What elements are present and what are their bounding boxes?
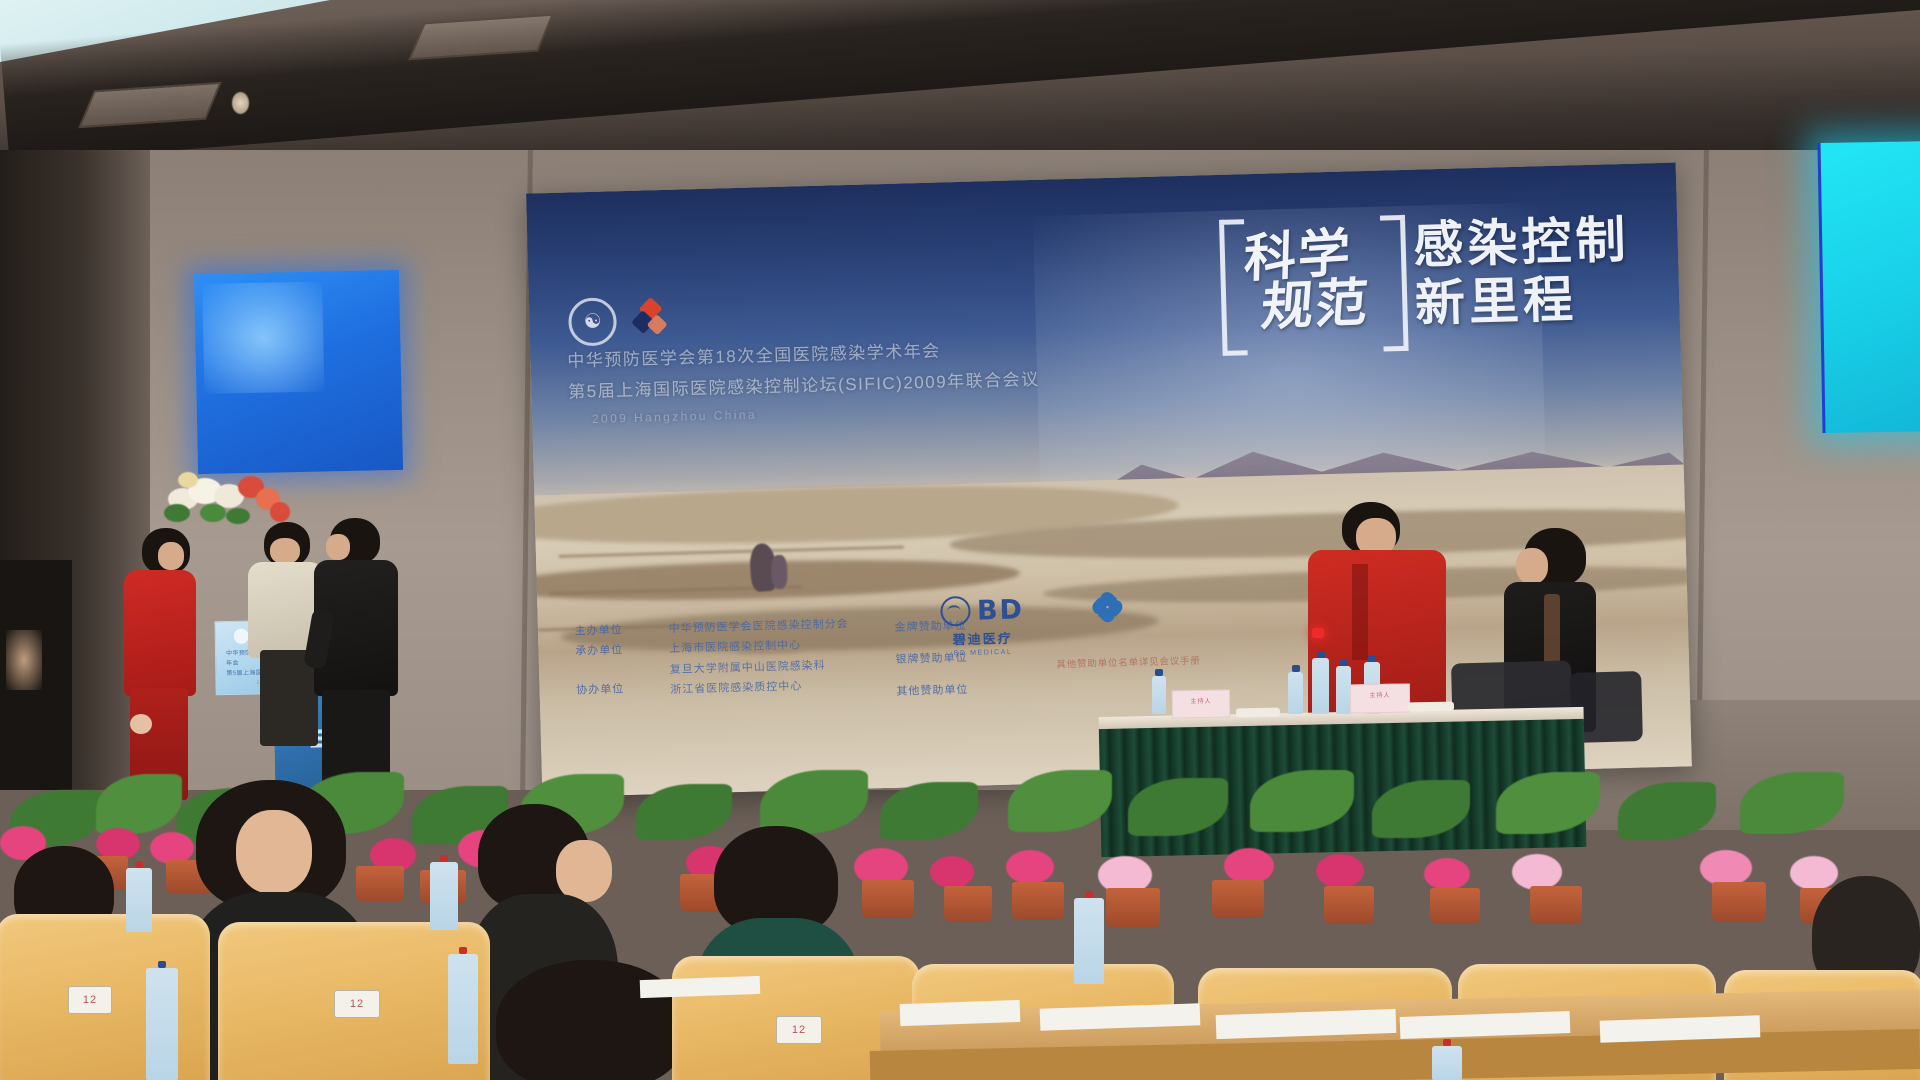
association-emblem-icon: ☯ (568, 297, 617, 346)
water-bottle (1152, 676, 1166, 714)
banner-logo-row: ☯ (568, 295, 671, 346)
sponsor-value: 浙江省医院感染质控中心 (670, 675, 850, 700)
bd-wordmark: BD (977, 594, 1025, 626)
banner-walker-figure (771, 555, 788, 589)
sponsor-label: 承办单位 (575, 640, 624, 662)
clover-icon (1092, 591, 1123, 622)
headline-right-text: 感染控制 新里程 (1413, 209, 1632, 331)
bd-sponsor-logo: BD 碧迪医疗 BD MEDICAL (940, 594, 1026, 657)
ceiling-dark-band (0, 0, 1920, 164)
audience-face (556, 840, 612, 902)
podium-flower-arrangement (164, 468, 292, 530)
doorway-light (6, 630, 42, 690)
calligraphy-line-2: 规范 (1259, 278, 1387, 334)
recessed-ceiling-light-icon (232, 92, 249, 114)
chair-number-plate: 12 (334, 990, 380, 1018)
water-bottle (126, 868, 152, 932)
sponsor-label: 协办单位 (576, 679, 625, 701)
attendant-dark-suit (314, 518, 402, 808)
name-card-text: 主持人 (1173, 696, 1229, 706)
banner-sponsor-block: 主办单位 承办单位 协办单位 中华预防医学会医院感染控制分会 上海市医院感染控制… (574, 611, 968, 717)
water-bottle (430, 862, 458, 930)
presenter-red-suit (124, 528, 202, 800)
podium-emblem-icon (234, 629, 249, 644)
water-bottle (1074, 898, 1104, 984)
headline-calligraphy: 科学 规范 (1243, 214, 1386, 348)
chair-number-plate: 12 (776, 1016, 822, 1044)
sific-diamond-logo-icon (630, 299, 671, 340)
sponsor-tier: 其他赞助单位 (896, 674, 969, 708)
name-card-text: 主持人 (1351, 689, 1409, 699)
name-card: 主持人 (1350, 683, 1410, 713)
name-card: 主持人 (1172, 689, 1230, 718)
paper-sheet (900, 1000, 1021, 1026)
left-projection-screen (194, 270, 403, 474)
water-bottle (146, 968, 178, 1080)
bd-chinese-name: 碧迪医疗 (952, 627, 1013, 648)
sponsor-label-column: 主办单位 承办单位 协办单位 (574, 620, 625, 717)
clover-sponsor-logo (1092, 591, 1123, 622)
badge-light (1312, 628, 1324, 638)
headline-line-1: 感染控制 (1413, 213, 1630, 273)
table-microphone (1236, 708, 1280, 718)
audience-head (496, 960, 686, 1080)
auditorium-chair[interactable]: 12 (0, 914, 210, 1080)
banner-sponsor-logos: BD 碧迪医疗 BD MEDICAL (940, 591, 1124, 657)
headline-line-2: 新里程 (1414, 271, 1631, 331)
water-bottle (1432, 1046, 1462, 1080)
bd-mark-icon (940, 596, 971, 627)
photo-scene: ☯ 中华预防医学会第18次全国医院感染学术年会 第5届上海国际医院感染控制论坛(… (0, 0, 1920, 1080)
chair-number-plate: 12 (68, 986, 112, 1014)
audience-face (236, 810, 312, 894)
banner-headline: 科学 规范 感染控制 新里程 (1219, 209, 1632, 348)
table-microphone (1408, 702, 1454, 712)
sponsor-label: 主办单位 (574, 620, 623, 642)
sponsor-value-column: 中华预防医学会医院感染控制分会 上海市医院感染控制中心 复旦大学附属中山医院感染… (668, 614, 851, 715)
headline-bracket-group: 科学 规范 (1219, 215, 1408, 348)
screen-hotspot (202, 281, 324, 393)
right-projection-screen (1817, 141, 1920, 433)
water-bottle (448, 954, 478, 1064)
water-bottle (1312, 658, 1329, 714)
water-bottle (1288, 672, 1303, 714)
water-bottle (1336, 666, 1351, 714)
